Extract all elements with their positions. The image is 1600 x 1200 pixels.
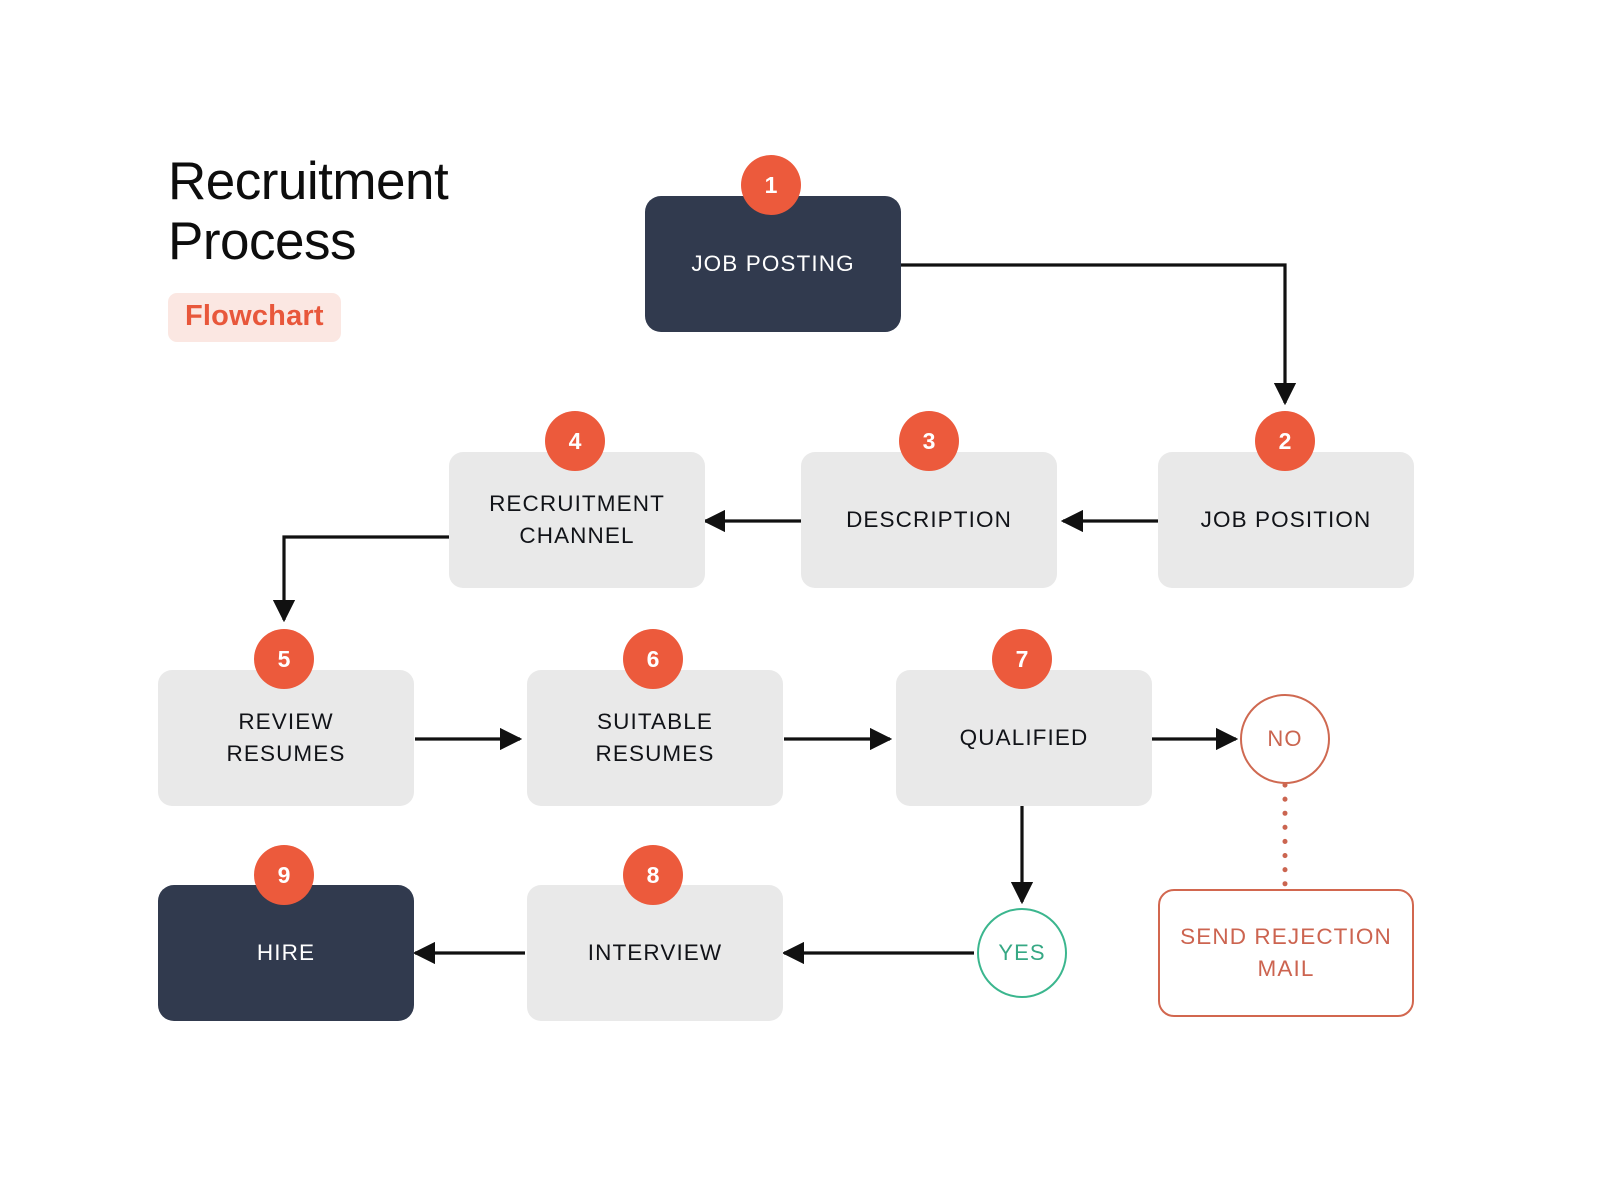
step-badge-8-number: 8 [647, 862, 660, 889]
step-badge-3: 3 [899, 411, 959, 471]
step-badge-7: 7 [992, 629, 1052, 689]
step-badge-5: 5 [254, 629, 314, 689]
step-badge-9: 9 [254, 845, 314, 905]
page-title: Recruitment Process [168, 152, 588, 273]
node-recruitment-channel-label: RECRUITMENT CHANNEL [489, 488, 665, 552]
flowchart-badge: Flowchart [168, 293, 341, 342]
node-send-rejection-mail-label: SEND REJECTION MAIL [1180, 921, 1392, 985]
node-review-resumes[interactable]: REVIEW RESUMES [158, 670, 414, 806]
step-badge-9-number: 9 [278, 862, 291, 889]
decision-no-label: NO [1267, 726, 1302, 752]
step-badge-2-number: 2 [1279, 428, 1292, 455]
node-send-rejection-mail[interactable]: SEND REJECTION MAIL [1158, 889, 1414, 1017]
step-badge-5-number: 5 [278, 646, 291, 673]
decision-yes-label: YES [998, 940, 1045, 966]
decision-no[interactable]: NO [1240, 694, 1330, 784]
node-interview-label: INTERVIEW [588, 937, 723, 969]
node-job-position-label: JOB POSITION [1201, 504, 1372, 536]
node-qualified-label: QUALIFIED [960, 722, 1089, 754]
step-badge-8: 8 [623, 845, 683, 905]
node-recruitment-channel[interactable]: RECRUITMENT CHANNEL [449, 452, 705, 588]
decision-yes[interactable]: YES [977, 908, 1067, 998]
node-suitable-resumes-label: SUITABLE RESUMES [596, 706, 715, 770]
connector-job-posting-to-job-position [901, 265, 1285, 403]
step-badge-6-number: 6 [647, 646, 660, 673]
node-qualified[interactable]: QUALIFIED [896, 670, 1152, 806]
node-hire-label: HIRE [257, 937, 315, 969]
title-block: Recruitment Process Flowchart [168, 152, 588, 342]
step-badge-1: 1 [741, 155, 801, 215]
step-badge-3-number: 3 [923, 428, 936, 455]
node-hire[interactable]: HIRE [158, 885, 414, 1021]
node-job-posting[interactable]: JOB POSTING [645, 196, 901, 332]
node-review-resumes-label: REVIEW RESUMES [227, 706, 346, 770]
connector-recruitment-channel-to-review-resumes [284, 537, 449, 620]
flowchart-canvas: Recruitment Process Flowchart [0, 0, 1600, 1200]
node-interview[interactable]: INTERVIEW [527, 885, 783, 1021]
node-job-posting-label: JOB POSTING [691, 248, 854, 280]
node-job-position[interactable]: JOB POSITION [1158, 452, 1414, 588]
step-badge-4-number: 4 [569, 428, 582, 455]
step-badge-6: 6 [623, 629, 683, 689]
node-description[interactable]: DESCRIPTION [801, 452, 1057, 588]
step-badge-1-number: 1 [765, 172, 778, 199]
node-description-label: DESCRIPTION [846, 504, 1012, 536]
step-badge-2: 2 [1255, 411, 1315, 471]
step-badge-4: 4 [545, 411, 605, 471]
node-suitable-resumes[interactable]: SUITABLE RESUMES [527, 670, 783, 806]
step-badge-7-number: 7 [1016, 646, 1029, 673]
